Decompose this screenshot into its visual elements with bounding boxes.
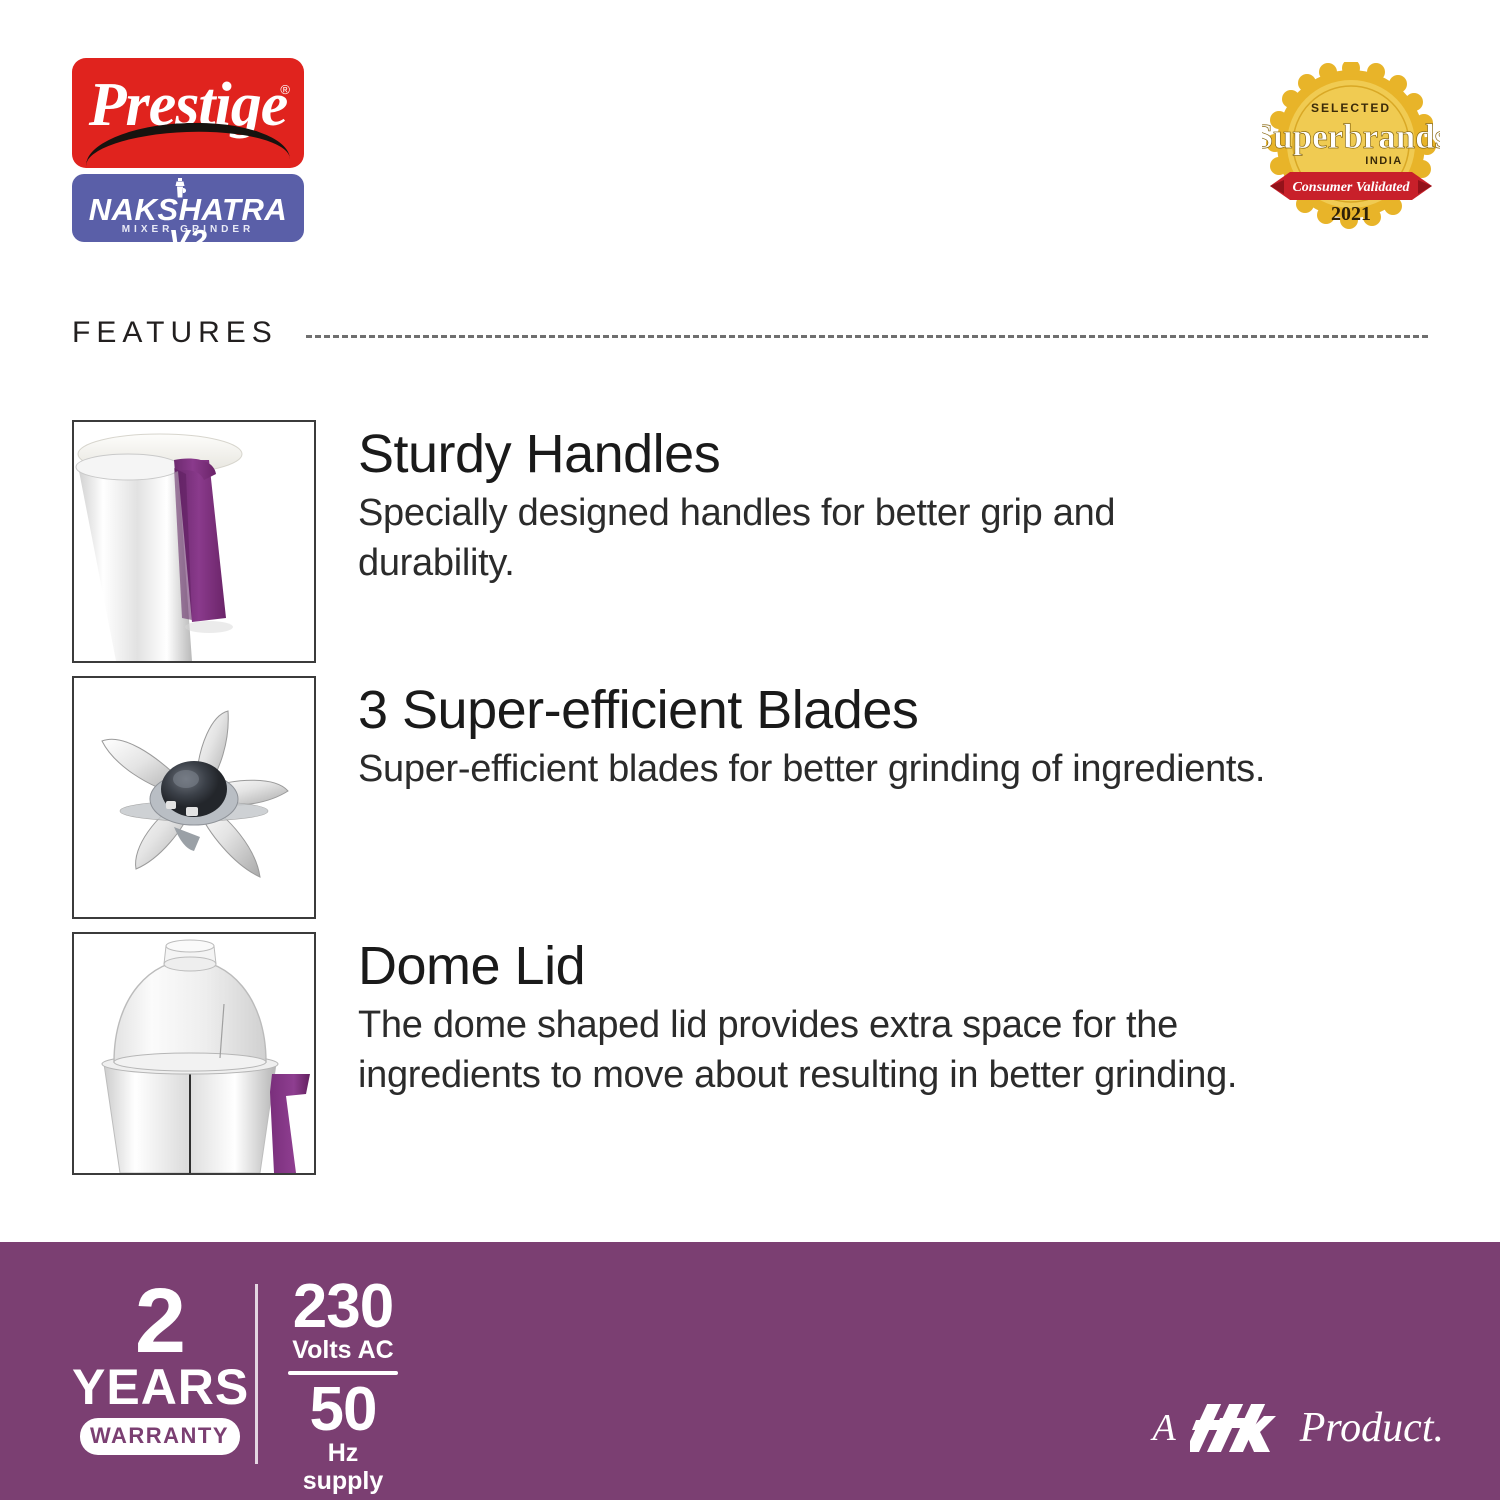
voltage-value: 230	[288, 1278, 398, 1336]
badge-country: INDIA	[1365, 155, 1402, 167]
registered-trademark-icon: ®	[280, 82, 290, 97]
badge-top-label: SELECTED	[1311, 101, 1391, 115]
feature-text: Dome Lid The dome shaped lid provides ex…	[358, 932, 1308, 1175]
voltage-label: Volts AC	[288, 1336, 398, 1364]
superbrands-seal-icon: SELECTED Superbrands INDIA Consumer Vali…	[1262, 62, 1440, 234]
warranty-block: 2 YEARS WARRANTY	[72, 1282, 247, 1455]
ttk-product-mark: A Product.	[1153, 1400, 1444, 1456]
footer-bar: 2 YEARS WARRANTY 230 Volts AC 50 Hz supp…	[0, 1242, 1500, 1500]
feature-heading: Sturdy Handles	[358, 424, 1308, 484]
jar-with-dome-lid-icon	[74, 934, 314, 1173]
frequency-label: Hz supply	[288, 1439, 398, 1495]
badge-ribbon-text: Consumer Validated	[1292, 180, 1410, 195]
ttk-suffix: Product.	[1300, 1404, 1444, 1452]
feature-thumbnail	[72, 676, 316, 919]
jar-with-purple-handle-icon	[74, 422, 314, 661]
ttk-logo-icon	[1190, 1400, 1286, 1456]
frequency-value: 50	[288, 1381, 398, 1439]
badge-year: 2021	[1331, 203, 1371, 225]
brand-logo-block: Prestige ® NAKSHATRA V2 MIXER GRINDER	[72, 58, 304, 242]
superbrands-badge: SELECTED Superbrands INDIA Consumer Vali…	[1262, 62, 1440, 234]
feature-item: Sturdy Handles Specially designed handle…	[72, 420, 1308, 663]
footer-divider	[255, 1284, 258, 1464]
feature-item: Dome Lid The dome shaped lid provides ex…	[72, 932, 1308, 1175]
header-divider	[306, 335, 1428, 338]
feature-text: 3 Super-efficient Blades Super-efficient…	[358, 676, 1308, 919]
nakshatra-v2-logo: NAKSHATRA V2 MIXER GRINDER	[72, 174, 304, 242]
feature-body: The dome shaped lid provides extra space…	[358, 1000, 1278, 1100]
product-feature-page: Prestige ® NAKSHATRA V2 MIXER GRINDER	[0, 0, 1500, 1500]
feature-item: 3 Super-efficient Blades Super-efficient…	[72, 676, 1308, 919]
prestige-logo: Prestige ®	[72, 58, 304, 168]
warranty-number: 2	[72, 1282, 247, 1360]
power-spec-block: 230 Volts AC 50 Hz supply	[288, 1278, 398, 1495]
features-title: FEATURES	[72, 316, 278, 350]
feature-heading: 3 Super-efficient Blades	[358, 680, 1308, 740]
badge-name: Superbrands	[1262, 117, 1440, 156]
feature-text: Sturdy Handles Specially designed handle…	[358, 420, 1308, 663]
nakshatra-tagline: MIXER GRINDER	[72, 224, 304, 235]
feature-thumbnail	[72, 420, 316, 663]
feature-body: Specially designed handles for better gr…	[358, 488, 1278, 588]
ttk-prefix: A	[1153, 1406, 1176, 1450]
features-section-header: FEATURES	[72, 312, 1428, 354]
warranty-badge: WARRANTY	[80, 1418, 240, 1455]
feature-heading: Dome Lid	[358, 936, 1308, 996]
feature-thumbnail	[72, 932, 316, 1175]
feature-body: Super-efficient blades for better grindi…	[358, 744, 1278, 794]
mixer-blade-assembly-icon	[74, 678, 314, 917]
warranty-years-label: YEARS	[72, 1362, 247, 1412]
